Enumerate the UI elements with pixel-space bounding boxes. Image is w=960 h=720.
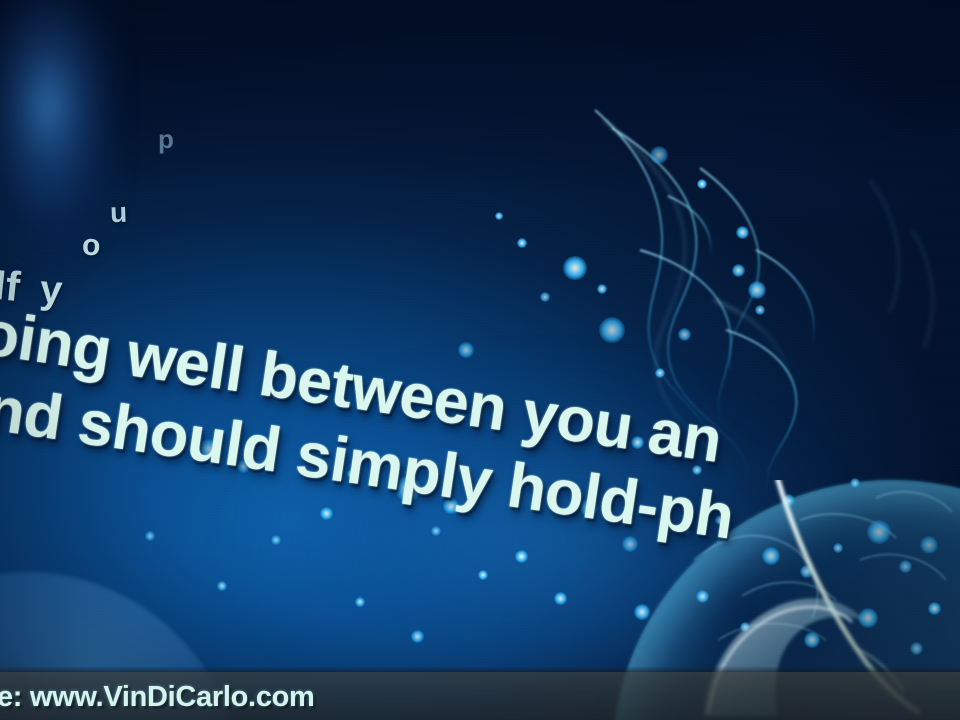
particle-dot (563, 256, 586, 279)
particle-dot (736, 226, 749, 239)
particle-dot (554, 592, 567, 605)
particle-dot (320, 507, 333, 520)
particle-dot (599, 317, 625, 343)
particle-dot (458, 342, 474, 358)
particle-dot (732, 264, 745, 277)
particle-dot (515, 550, 528, 563)
particle-dot (804, 632, 820, 648)
particle-dot (928, 602, 941, 615)
floating-letter-u: u (109, 197, 127, 230)
particle-dot (748, 281, 766, 299)
particle-dot (678, 328, 691, 341)
particle-dot (411, 630, 424, 643)
particle-dot (696, 590, 709, 603)
video-frame: p u o y If e going well between you an f… (0, 0, 960, 720)
particle-dot (495, 212, 503, 220)
website-text: site: www.VinDiCarlo.com (0, 681, 315, 714)
background-right-shade (630, 0, 960, 330)
particle-dot (650, 146, 668, 164)
lower-third-bar: site: www.VinDiCarlo.com (0, 672, 960, 720)
floating-letter-o: o (81, 229, 101, 264)
particle-dot (910, 642, 923, 655)
particle-dot (634, 604, 650, 620)
floating-letter-p: p (158, 124, 174, 155)
